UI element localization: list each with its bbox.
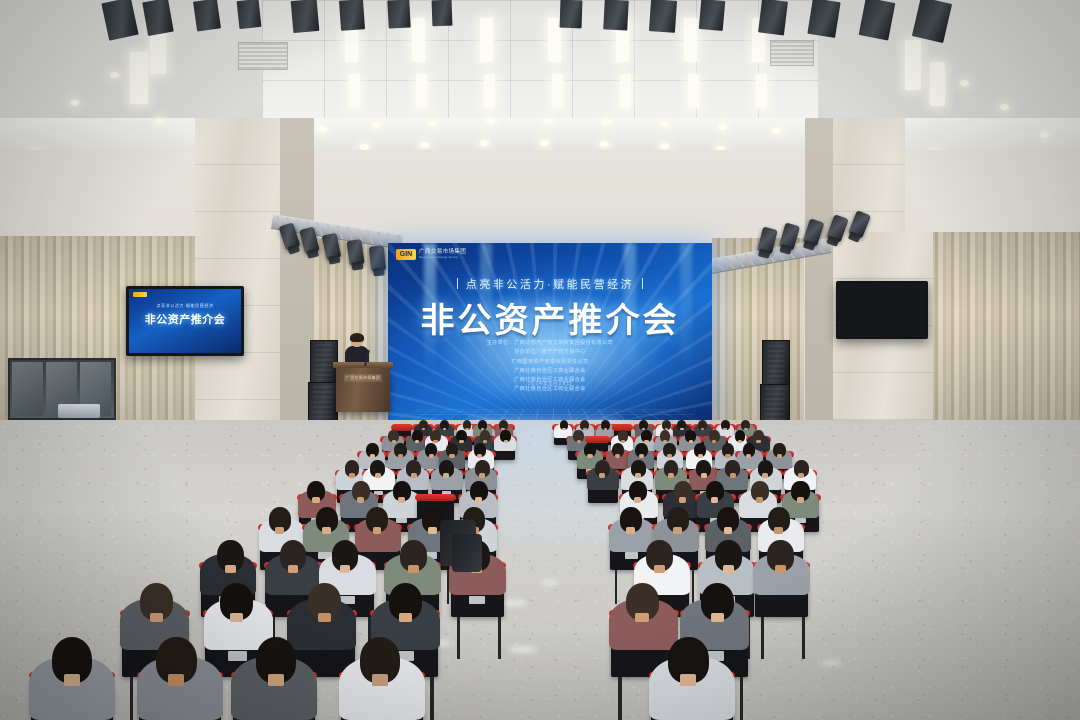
- subtitle-bar-left-icon: [457, 278, 458, 289]
- audience-member-neck: [64, 674, 80, 686]
- audience-member-neck: [479, 473, 485, 477]
- audience-member-neck: [698, 454, 703, 458]
- audience-member-neck: [774, 527, 783, 534]
- curtain-right: [930, 232, 1080, 432]
- audience-member-neck: [443, 473, 449, 477]
- ceiling-panel-light: [684, 18, 697, 62]
- main-led-screen: GIN 广西交易市场集团 Guangxi Exchange Group 点亮非公…: [388, 243, 712, 426]
- seat-leg: [498, 617, 501, 658]
- audience-member-neck: [679, 497, 686, 502]
- seat-leg: [457, 617, 460, 658]
- column-left: [195, 118, 291, 450]
- audience-member-neck: [621, 440, 625, 443]
- seat-number-tag: [625, 552, 638, 559]
- ceiling-downlight: [660, 121, 669, 127]
- wall-tv-left-display: 点亮非公活力·赋能民营经济 非公资产推介会: [129, 289, 241, 353]
- audience-member-neck: [429, 454, 434, 458]
- ceiling-acoustic-baffle: [237, 0, 262, 29]
- audience-member-neck: [399, 613, 412, 623]
- audience-member-neck: [449, 454, 454, 458]
- brand-mark-icon: GIN: [396, 249, 416, 260]
- audience-member-neck: [667, 454, 672, 458]
- air-vent-right: [770, 40, 814, 66]
- luggage-bag-center: [452, 534, 482, 572]
- ceiling-downlight: [772, 128, 781, 134]
- audience-member-neck: [268, 674, 284, 686]
- ceiling-panel-light: [480, 18, 493, 62]
- audience-member-neck: [392, 440, 396, 443]
- wall-tv-left-brand-icon: [133, 292, 147, 297]
- seat-leg: [740, 677, 743, 720]
- wall-tv-left-subtitle: 点亮非公活力·赋能民营经济: [129, 303, 241, 309]
- ceiling-downlight: [600, 141, 609, 147]
- ceiling-downlight: [486, 118, 495, 124]
- audience-member-neck: [756, 440, 760, 443]
- seat-leg: [802, 617, 805, 658]
- ceiling-panel-light: [412, 18, 425, 62]
- audience-member-neck: [680, 428, 684, 431]
- audience-member-neck: [465, 428, 469, 431]
- column-right-return: [805, 118, 833, 450]
- audience-member-neck: [230, 613, 243, 623]
- audience-member-neck: [372, 674, 388, 686]
- audience-member-neck: [322, 527, 331, 534]
- audience-member-neck: [680, 674, 696, 686]
- audience-member-neck: [668, 473, 674, 477]
- audience-member-neck: [408, 565, 419, 573]
- audience-member-neck: [433, 440, 437, 443]
- ceiling-panel-light: [620, 74, 631, 108]
- seat-leg: [430, 677, 433, 720]
- ceiling-downlight: [960, 80, 969, 86]
- seat-leg: [692, 570, 694, 604]
- audience-member-neck: [475, 497, 482, 502]
- audience-member-neck: [375, 473, 381, 477]
- audience-member-neck: [724, 527, 733, 534]
- audience-member-neck: [504, 440, 508, 443]
- audience-member-neck: [730, 473, 736, 477]
- audience-member-neck: [635, 473, 641, 477]
- ceiling-acoustic-baffle: [339, 0, 365, 31]
- audience-member-neck: [723, 428, 727, 431]
- screen-title: 非公资产推介会: [388, 293, 712, 342]
- audience-member-neck: [275, 527, 284, 534]
- audience-member-neck: [711, 613, 724, 623]
- podium-plaque: 广西交易市场集团: [344, 374, 382, 382]
- seat-number-tag: [228, 651, 248, 661]
- audience-member-neck: [744, 428, 748, 431]
- ceiling-panel-light: [416, 74, 427, 108]
- audience-member-neck: [712, 440, 716, 443]
- ceiling-acoustic-baffle: [387, 0, 410, 29]
- floor-light-reflection: [508, 646, 538, 653]
- screen-subtitle: 点亮非公活力·赋能民营经济: [466, 279, 634, 291]
- seat-leg: [615, 570, 617, 604]
- floor-light-reflection: [820, 660, 842, 666]
- audience-member-neck: [711, 497, 718, 502]
- ceiling-downlight: [544, 118, 553, 124]
- ceiling-downlight: [110, 72, 119, 78]
- audience-member-neck: [775, 565, 786, 573]
- screen-organizer-line: 广西国有资产管理有限责任公司: [388, 358, 712, 367]
- audience-member-neck: [583, 428, 587, 431]
- audience-member-neck: [663, 440, 667, 443]
- audience-member-neck: [443, 428, 447, 431]
- booth-equipment: [58, 404, 100, 418]
- seat-leg: [761, 617, 764, 658]
- booth-pane-1: [12, 362, 43, 416]
- ceiling-downlight: [1040, 132, 1049, 138]
- audience-member-neck: [340, 565, 351, 573]
- ceiling-acoustic-baffle: [142, 0, 174, 36]
- seat-number-tag: [469, 596, 485, 604]
- ceiling-downlight: [70, 100, 79, 106]
- ceiling-panel-light: [756, 74, 767, 108]
- audience-member-neck: [626, 527, 635, 534]
- ceiling-downlight: [428, 120, 437, 126]
- audience-member-neck: [562, 428, 566, 431]
- ceiling-acoustic-baffle: [758, 0, 788, 35]
- audience-member-neck: [459, 440, 463, 443]
- screen-organizer-line: 协办单位：南宁产权交易中心: [388, 348, 712, 357]
- ceiling-downlight: [372, 122, 381, 128]
- audience-member-neck: [312, 497, 319, 502]
- audience-member-neck: [373, 527, 382, 534]
- ceiling-acoustic-baffle: [807, 0, 840, 38]
- audience-member-neck: [168, 674, 184, 686]
- seat-number-tag: [396, 518, 407, 524]
- ceiling-downlight: [155, 118, 164, 124]
- wall-tv-left: 点亮非公活力·赋能民营经济 非公资产推介会: [126, 286, 244, 356]
- conference-hall-photo: GIN 广西交易市场集团 Guangxi Exchange Group 点亮非公…: [0, 0, 1080, 720]
- ceiling-panel-light: [349, 74, 360, 108]
- audience-member-neck: [415, 440, 419, 443]
- air-vent-left: [238, 42, 288, 70]
- audience-member-neck: [798, 473, 804, 477]
- ceiling-downlight: [660, 143, 669, 149]
- floor-light-reflection: [540, 580, 558, 585]
- audience-member-neck: [483, 440, 487, 443]
- audience-member-neck: [577, 440, 581, 443]
- curtain-right-shading: [930, 232, 1080, 432]
- ceiling-downlight: [480, 140, 489, 146]
- ceiling-acoustic-baffle: [603, 0, 629, 31]
- screen-date: 2024年6月28日: [388, 380, 712, 387]
- ceiling-panel-light: [130, 52, 148, 104]
- ceiling-acoustic-baffle: [649, 0, 677, 33]
- audience-member-neck: [701, 473, 707, 477]
- audience-member-neck: [725, 454, 730, 458]
- audience-member-neck: [288, 565, 299, 573]
- audience-member-neck: [318, 613, 331, 623]
- ceiling-acoustic-baffle: [291, 0, 320, 33]
- ceiling-acoustic-baffle: [193, 0, 221, 32]
- ceiling-panel-light: [688, 74, 699, 108]
- audience-member-neck: [398, 454, 403, 458]
- ceiling-acoustic-baffle: [560, 0, 583, 28]
- ceiling-panel-light: [905, 40, 921, 90]
- audience-member-neck: [654, 565, 665, 573]
- audience-member-neck: [428, 527, 437, 534]
- audience-member-neck: [689, 440, 693, 443]
- ceiling-acoustic-baffle: [699, 0, 726, 31]
- audience-member-neck: [398, 497, 405, 502]
- screen-subtitle-row: 点亮非公活力·赋能民营经济: [388, 276, 712, 292]
- audience-member-neck: [150, 613, 163, 623]
- wall-tv-left-title: 非公资产推介会: [129, 311, 241, 327]
- ceiling-downlight: [420, 142, 429, 148]
- ceiling-downlight: [1000, 104, 1009, 110]
- subtitle-bar-right-icon: [642, 278, 643, 289]
- seat-leg: [130, 677, 133, 720]
- audience-member-neck: [797, 497, 804, 502]
- screen-organizer-line: 广西壮族自治区工商业联合会: [388, 367, 712, 376]
- screen-organizer-line: 主办单位：广西北部湾产权交易所集团股份有限公司: [388, 339, 712, 348]
- audience-member-neck: [673, 527, 682, 534]
- loudspeaker-right-top: [762, 340, 790, 386]
- wall-tv-right: [836, 281, 928, 339]
- audience-member-neck: [644, 440, 648, 443]
- audience-member-neck: [349, 473, 355, 477]
- presenter-hair: [350, 333, 364, 342]
- audience-member-neck: [635, 613, 648, 623]
- ceiling-panel-light: [930, 62, 945, 106]
- ceiling-downlight: [602, 119, 611, 125]
- ceiling-downlight: [318, 126, 327, 132]
- ceiling-panel-light: [484, 74, 495, 108]
- ceiling-panel-light: [552, 74, 563, 108]
- ceiling-downlight: [540, 140, 549, 146]
- audience-member-neck: [634, 497, 641, 502]
- loudspeaker-right-bottom: [760, 384, 790, 424]
- loudspeaker-left-bottom: [308, 382, 338, 422]
- screen-brand-logo: GIN 广西交易市场集团 Guangxi Exchange Group: [396, 249, 466, 260]
- stage-spotlight: [369, 245, 387, 271]
- audience-member-neck: [411, 473, 417, 477]
- ceiling-acoustic-baffle: [432, 0, 453, 26]
- audience-member-neck: [599, 473, 605, 477]
- audience-member-neck: [587, 454, 592, 458]
- brand-name-en: Guangxi Exchange Group: [419, 256, 466, 259]
- audience-member-neck: [756, 497, 763, 502]
- audience-member-neck: [357, 497, 364, 502]
- audience-member-neck: [762, 473, 768, 477]
- podium: 广西交易市场集团: [336, 366, 390, 412]
- seat-leg: [618, 677, 621, 720]
- audience-member-neck: [723, 565, 734, 573]
- audience-member-neck: [225, 565, 236, 573]
- ceiling-downlight: [718, 124, 727, 130]
- audience-member-neck: [738, 440, 742, 443]
